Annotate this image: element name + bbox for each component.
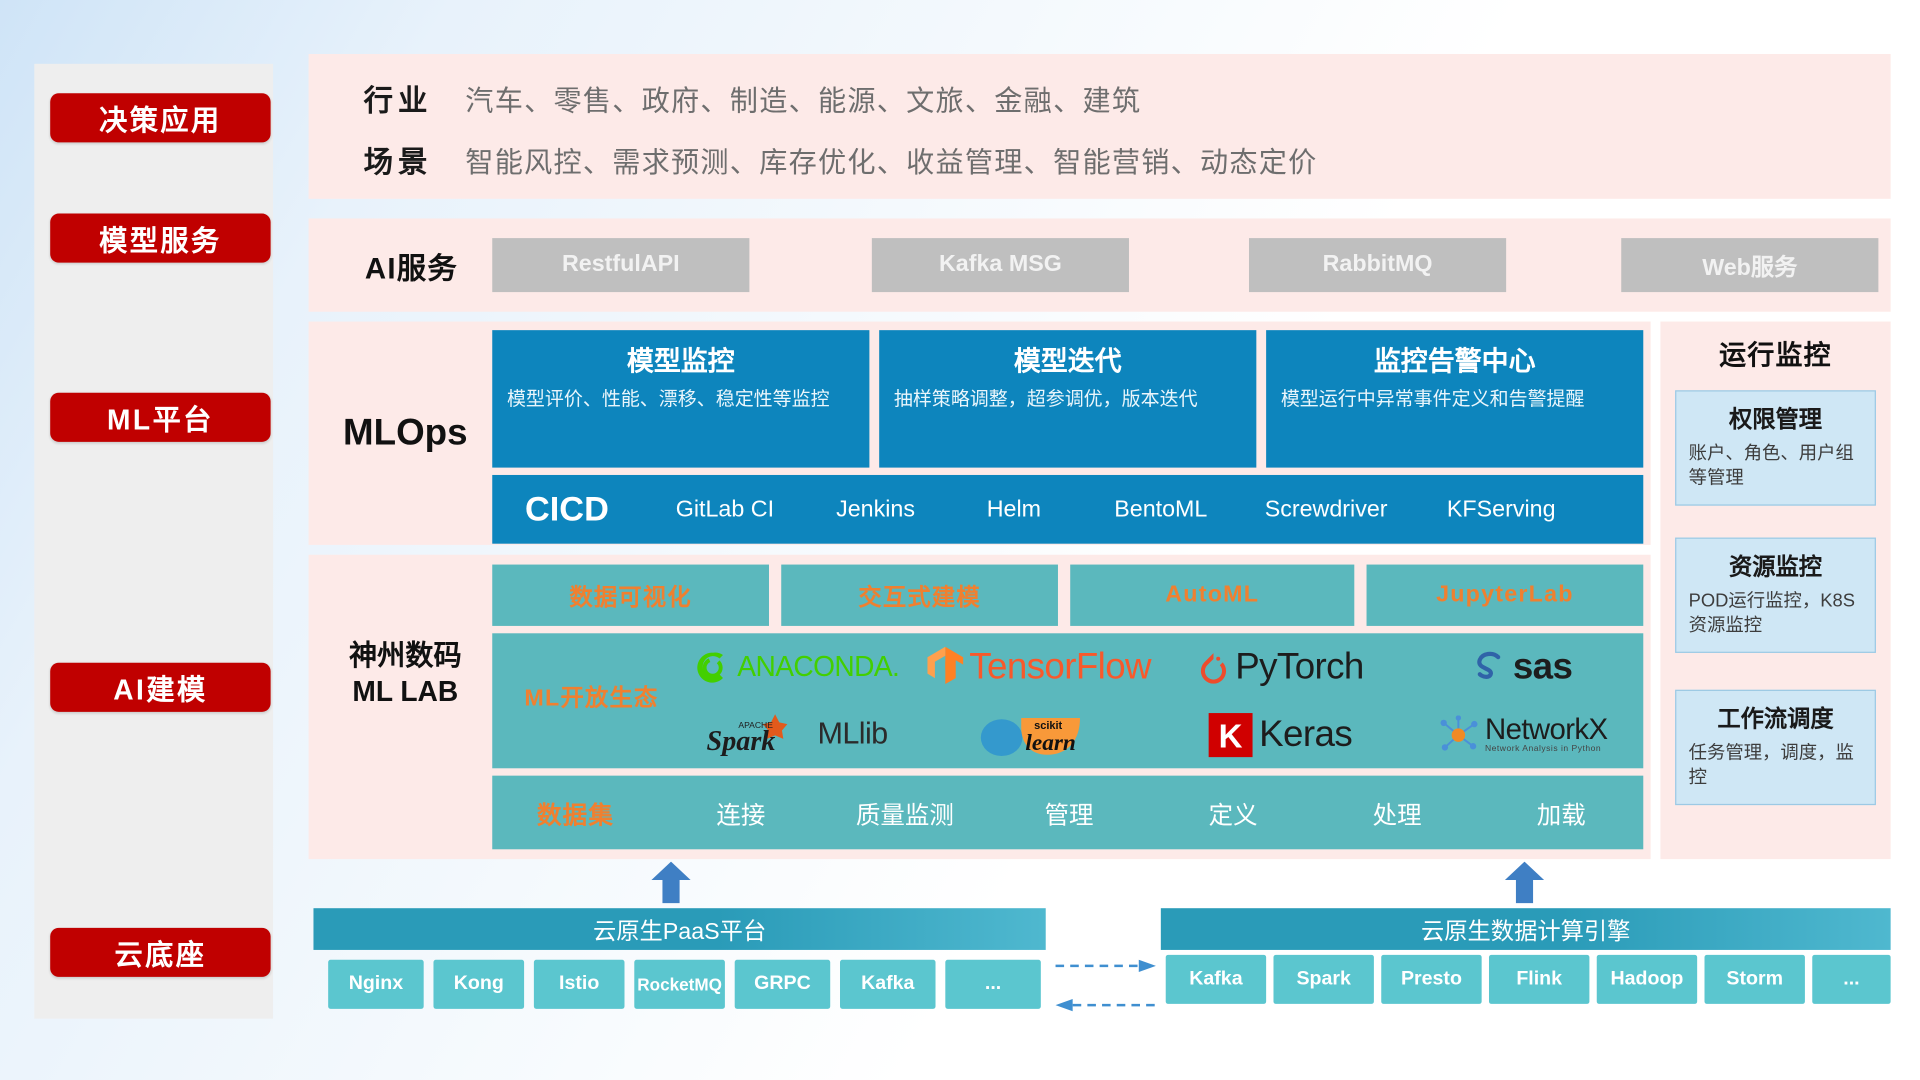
scenario-value: 智能风控、需求预测、库存优化、收益管理、智能营销、动态定价: [465, 138, 1317, 180]
arrow-up-paas-icon: [649, 862, 693, 904]
cicd-item-kfserving[interactable]: KFServing: [1416, 498, 1587, 521]
tool-chip-automl[interactable]: AutoML: [1070, 565, 1354, 626]
runtime-monitor-band: 运行监控 权限管理 账户、角色、用户组等管理 资源监控 POD运行监控，K8S资…: [1660, 322, 1890, 860]
monitor-card-permission[interactable]: 权限管理 账户、角色、用户组等管理: [1675, 390, 1876, 505]
dataset-item-quality[interactable]: 质量监测: [823, 795, 987, 831]
industry-label: 行业: [331, 76, 466, 119]
ml-ecosystem-logo-grid: ANACONDA. TensorFlow: [676, 633, 1643, 768]
ai-chip-kafka-msg[interactable]: Kafka MSG: [872, 238, 1129, 292]
networkx-wordmark-group: NetworkX Network Analysis in Python: [1485, 716, 1607, 754]
engine-pill-more[interactable]: ...: [1812, 955, 1890, 1004]
cicd-item-screwdriver[interactable]: Screwdriver: [1237, 498, 1416, 521]
tool-chip-data-visualization[interactable]: 数据可视化: [492, 565, 769, 626]
arrow-up-data-engine-icon: [1502, 862, 1546, 904]
industry-row: 行业 汽车、零售、政府、制造、能源、文旅、金融、建筑: [331, 76, 1142, 119]
keras-wordmark: Keras: [1259, 714, 1352, 756]
cicd-item-bentoml[interactable]: BentoML: [1085, 498, 1237, 521]
pytorch-wordmark: PyTorch: [1235, 646, 1363, 688]
anaconda-wordmark: ANACONDA.: [737, 650, 899, 683]
dataset-item-load[interactable]: 加载: [1479, 795, 1643, 831]
arrow-right-dashed-icon: [1056, 957, 1156, 974]
left-rail: [34, 64, 273, 1019]
industry-value: 汽车、零售、政府、制造、能源、文旅、金融、建筑: [465, 77, 1141, 119]
svg-text:learn: learn: [1026, 729, 1076, 755]
scenario-row: 场景 智能风控、需求预测、库存优化、收益管理、智能营销、动态定价: [331, 137, 1318, 180]
industry-scenario-band: 行业 汽车、零售、政府、制造、能源、文旅、金融、建筑 场景 智能风控、需求预测、…: [309, 54, 1891, 199]
mlops-label: MLOps: [326, 322, 485, 545]
ml-ecosystem-label: ML开放生态: [512, 680, 671, 713]
card-desc: 模型运行中异常事件定义和告警提醒: [1281, 387, 1629, 413]
networkx-logo-item: NetworkX Network Analysis in Python: [1437, 715, 1607, 754]
paas-pill-nginx[interactable]: Nginx: [328, 960, 424, 1009]
scikit-learn-logo-item: scikit learn: [975, 710, 1102, 759]
monitor-card-workflow[interactable]: 工作流调度 任务管理，调度，监控: [1675, 690, 1876, 805]
monitor-card-resource[interactable]: 资源监控 POD运行监控，K8S资源监控: [1675, 538, 1876, 653]
spark-mllib-logo-item: Spark APACHE MLlib: [706, 712, 888, 756]
engine-pill-storm[interactable]: Storm: [1705, 955, 1805, 1004]
mlops-card-model-monitor[interactable]: 模型监控 模型评价、性能、漂移、稳定性等监控: [492, 330, 869, 467]
networkx-tagline: Network Analysis in Python: [1485, 745, 1607, 754]
paas-pill-kafka[interactable]: Kafka: [840, 960, 936, 1009]
cicd-item-helm[interactable]: Helm: [943, 498, 1085, 521]
cloud-paas-header: 云原生PaaS平台: [313, 908, 1045, 950]
pytorch-icon: [1197, 649, 1229, 686]
tool-chip-interactive-modeling[interactable]: 交互式建模: [781, 565, 1058, 626]
dataset-item-define[interactable]: 定义: [1151, 795, 1315, 831]
card-title: 工作流调度: [1689, 701, 1863, 734]
svg-text:Spark: Spark: [706, 725, 775, 756]
rail-item-cloud-base[interactable]: 云底座: [50, 928, 270, 977]
dataset-row: 数据集 连接 质量监测 管理 定义 处理 加载: [492, 776, 1643, 850]
cicd-item-gitlab-ci[interactable]: GitLab CI: [642, 498, 809, 521]
dataset-item-connect[interactable]: 连接: [659, 795, 823, 831]
card-title: 模型迭代: [894, 340, 1242, 379]
ml-lab-label: 神州数码 ML LAB: [321, 638, 490, 710]
cicd-title: CICD: [492, 490, 641, 529]
diagram-canvas: 决策应用 模型服务 ML平台 AI建模 云底座 行业 汽车、零售、政府、制造、能…: [0, 0, 1920, 1080]
paas-pill-istio[interactable]: Istio: [534, 960, 625, 1009]
mlops-card-model-iteration[interactable]: 模型迭代 抽样策略调整，超参调优，版本迭代: [879, 330, 1256, 467]
paas-pill-rocketmq[interactable]: RocketMQ: [634, 960, 725, 1009]
ai-chip-web-service[interactable]: Web服务: [1621, 238, 1878, 292]
engine-pill-kafka[interactable]: Kafka: [1166, 955, 1266, 1004]
dataset-item-process[interactable]: 处理: [1315, 795, 1479, 831]
tool-chip-jupyterlab[interactable]: JupyterLab: [1367, 565, 1644, 626]
pytorch-logo-item: PyTorch: [1197, 646, 1363, 688]
svg-text:K: K: [1219, 718, 1243, 755]
rail-item-ml-platform[interactable]: ML平台: [50, 393, 270, 442]
anaconda-icon: [694, 649, 731, 686]
scikit-learn-icon: scikit learn: [975, 710, 1102, 759]
anaconda-logo-item: ANACONDA.: [694, 649, 899, 686]
tensorflow-logo-item: TensorFlow: [926, 646, 1151, 688]
tensorflow-icon: [926, 646, 963, 688]
card-title: 权限管理: [1689, 401, 1863, 434]
ml-lab-label-line1: 神州数码: [321, 638, 490, 674]
runtime-monitor-title: 运行监控: [1660, 334, 1890, 373]
sas-logo-item: sas: [1472, 646, 1572, 688]
card-desc: 账户、角色、用户组等管理: [1689, 442, 1863, 492]
scenario-label: 场景: [331, 137, 466, 180]
rail-item-decision-app[interactable]: 决策应用: [50, 93, 270, 142]
rail-item-ai-modeling[interactable]: AI建模: [50, 663, 270, 712]
cloud-data-engine-header: 云原生数据计算引擎: [1161, 908, 1891, 950]
ai-modeling-band: 神州数码 ML LAB 数据可视化 交互式建模 AutoML JupyterLa…: [309, 555, 1651, 859]
ai-chip-rabbitmq[interactable]: RabbitMQ: [1249, 238, 1506, 292]
paas-pill-grpc[interactable]: GRPC: [735, 960, 831, 1009]
mllib-wordmark: MLlib: [818, 717, 888, 753]
tensorflow-wordmark: TensorFlow: [969, 646, 1151, 688]
engine-pill-flink[interactable]: Flink: [1489, 955, 1589, 1004]
spark-icon: Spark APACHE: [706, 712, 811, 756]
card-title: 资源监控: [1689, 549, 1863, 582]
card-desc: 任务管理，调度，监控: [1689, 741, 1863, 791]
keras-icon: K: [1209, 712, 1253, 756]
svg-text:APACHE: APACHE: [738, 719, 773, 729]
ai-service-band: AI服务 RestfulAPI Kafka MSG RabbitMQ Web服务: [309, 218, 1891, 311]
paas-pill-more[interactable]: ...: [945, 960, 1041, 1009]
card-title: 模型监控: [507, 340, 855, 379]
dataset-item-manage[interactable]: 管理: [987, 795, 1151, 831]
engine-pill-spark[interactable]: Spark: [1273, 955, 1373, 1004]
card-title: 监控告警中心: [1281, 340, 1629, 379]
ai-service-label: AI服务: [338, 218, 485, 311]
ai-chip-restfulapi[interactable]: RestfulAPI: [492, 238, 749, 292]
keras-logo-item: K Keras: [1209, 712, 1352, 756]
ml-lab-label-line2: ML LAB: [321, 674, 490, 710]
sas-icon: [1472, 649, 1506, 686]
engine-pill-hadoop[interactable]: Hadoop: [1597, 955, 1697, 1004]
card-desc: 抽样策略调整，超参调优，版本迭代: [894, 387, 1242, 413]
sas-wordmark: sas: [1513, 646, 1572, 688]
mlops-card-alert-center[interactable]: 监控告警中心 模型运行中异常事件定义和告警提醒: [1266, 330, 1643, 467]
arrow-left-dashed-icon: [1056, 997, 1156, 1014]
dataset-title: 数据集: [492, 795, 659, 831]
cicd-row: CICD GitLab CI Jenkins Helm BentoML Scre…: [492, 475, 1643, 544]
cicd-item-jenkins[interactable]: Jenkins: [808, 498, 943, 521]
networkx-icon: [1437, 715, 1479, 754]
ml-ecosystem-box: ML开放生态 ANACONDA.: [492, 633, 1643, 768]
engine-pill-presto[interactable]: Presto: [1381, 955, 1481, 1004]
networkx-wordmark: NetworkX: [1485, 716, 1607, 745]
card-desc: POD运行监控，K8S资源监控: [1689, 589, 1863, 639]
paas-pill-kong[interactable]: Kong: [433, 960, 524, 1009]
card-desc: 模型评价、性能、漂移、稳定性等监控: [507, 387, 855, 413]
mlops-band: MLOps 模型监控 模型评价、性能、漂移、稳定性等监控 模型迭代 抽样策略调整…: [309, 322, 1651, 545]
rail-item-model-service[interactable]: 模型服务: [50, 214, 270, 263]
